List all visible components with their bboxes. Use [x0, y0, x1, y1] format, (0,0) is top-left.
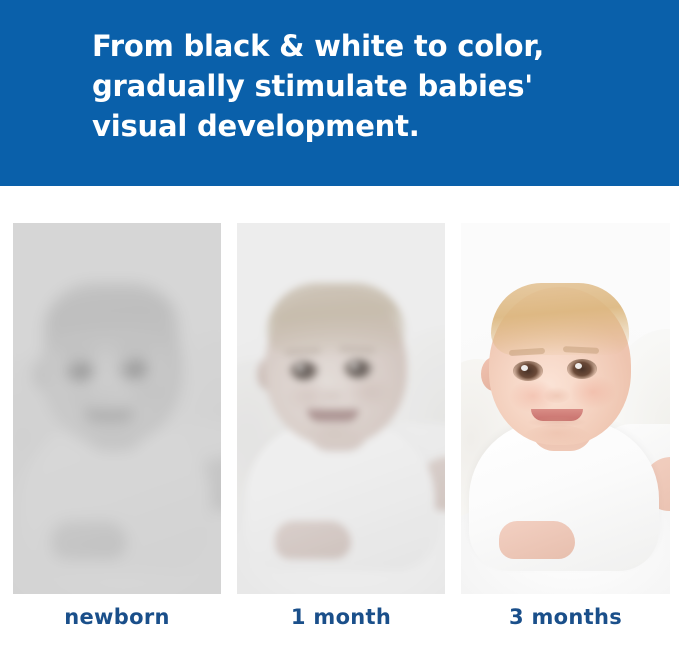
baby-eye-left — [513, 361, 543, 381]
baby-hand — [499, 521, 575, 559]
baby-eye-right — [343, 359, 373, 379]
eye-glint — [521, 365, 528, 371]
vision-comparison-strip: newborn — [0, 186, 679, 647]
eye-glint — [351, 363, 358, 369]
panel-caption-three-months: 3 months — [461, 605, 670, 629]
eye-glint — [73, 365, 80, 371]
baby-hair — [43, 283, 181, 355]
baby-eye-right — [119, 359, 149, 379]
eye-glint — [297, 365, 304, 371]
baby-cheek-right — [569, 375, 617, 409]
baby-hand — [51, 521, 127, 559]
panel-caption-newborn: newborn — [13, 605, 221, 629]
baby-hair — [267, 283, 405, 355]
baby-nose — [319, 385, 347, 403]
baby-scene — [461, 223, 670, 594]
baby-cheek-right — [121, 375, 169, 409]
baby-scene — [13, 223, 221, 594]
eye-glint — [575, 363, 582, 369]
baby-photo-three-months — [461, 223, 670, 594]
baby-nose — [543, 385, 571, 403]
baby-chin — [299, 425, 367, 451]
baby-photo-one-month — [237, 223, 445, 594]
baby-chin — [523, 425, 591, 451]
baby-hand — [275, 521, 351, 559]
eye-glint — [127, 363, 134, 369]
baby-chin — [75, 425, 143, 451]
header-banner: From black & white to color, gradually s… — [0, 0, 679, 186]
baby-photo-newborn — [13, 223, 221, 594]
baby-eye-left — [289, 361, 319, 381]
baby-nose — [95, 385, 123, 403]
baby-scene — [237, 223, 445, 594]
headline-text: From black & white to color, gradually s… — [92, 26, 652, 146]
baby-eye-left — [65, 361, 95, 381]
panel-caption-one-month: 1 month — [237, 605, 445, 629]
baby-hair — [491, 283, 629, 355]
baby-cheek-right — [345, 375, 393, 409]
baby-eye-right — [567, 359, 597, 379]
